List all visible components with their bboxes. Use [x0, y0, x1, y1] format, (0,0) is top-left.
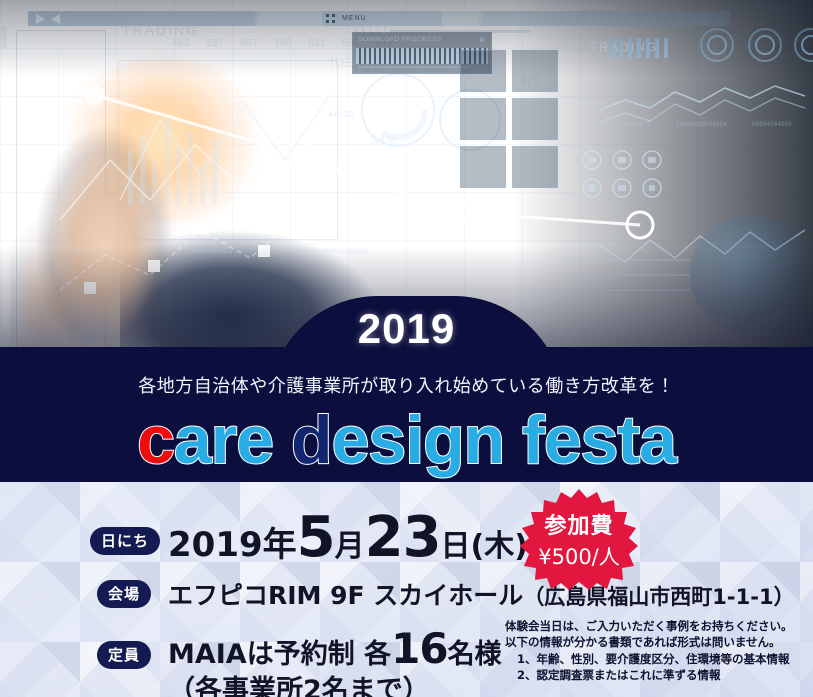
logo-design-rest: esign — [332, 402, 505, 478]
event-venue-line: エフピコRIM 9F スカイホール（広島県福山市西町1-1-1） — [168, 576, 795, 612]
event-capacity-line: MAIAは予約制 各16名様 （各事業所2名まで） — [168, 622, 502, 697]
fee-badge: 参加費 ¥500/人 — [518, 487, 640, 591]
event-logo: caredesignfesta — [0, 405, 813, 476]
note-line-2: 以下の情報が分かる書類であれば形式は問いません。 — [505, 634, 793, 650]
venue-name: エフピコRIM 9F スカイホール — [168, 581, 523, 610]
label-date-badge: 日にち — [90, 527, 160, 555]
date-year: 2019年 — [168, 525, 297, 565]
tagline: 各地方自治体や介護事業所が取り入れ始めている働き方改革を！ — [0, 372, 813, 398]
event-date-line: 2019年5月23日(木) — [168, 505, 528, 570]
logo-letter-d: d — [291, 402, 332, 478]
fee-amount: ¥500/人 — [538, 541, 620, 571]
event-notes: 体験会当日は、ご入力いただく事例をお持ちください。 以下の情報が分かる書類であれ… — [505, 618, 793, 683]
date-day-unit: 日(木) — [441, 529, 528, 564]
note-line-3: 1、年齢、性別、要介護度区分、住環境等の基本情報 — [505, 651, 793, 667]
event-year: 2019 — [0, 305, 813, 353]
label-venue-badge: 会場 — [97, 580, 151, 608]
note-line-1: 体験会当日は、ご入力いただく事例をお持ちください。 — [505, 618, 793, 634]
logo-festa: festa — [522, 402, 676, 478]
capacity-prefix: MAIAは予約制 各 — [168, 639, 391, 670]
capacity-suffix: 名様 — [448, 639, 502, 670]
event-flyer: MENU TRADING TRADING PROFILE IDENTIFICAT… — [0, 0, 813, 697]
logo-letter-c: c — [137, 402, 174, 478]
fee-text: 参加費 ¥500/人 — [518, 487, 640, 591]
capacity-number: 16 — [391, 624, 447, 673]
date-month-number: 5 — [297, 505, 335, 570]
fee-label: 参加費 — [544, 508, 613, 540]
note-line-4: 2、認定調査票またはこれに準ずる情報 — [505, 667, 793, 683]
label-capacity-badge: 定員 — [97, 641, 151, 669]
date-month-unit: 月 — [335, 529, 365, 564]
logo-care-rest: are — [174, 402, 273, 478]
date-day-number: 23 — [365, 505, 441, 570]
capacity-subnote: （各事業所2名まで） — [168, 674, 502, 697]
